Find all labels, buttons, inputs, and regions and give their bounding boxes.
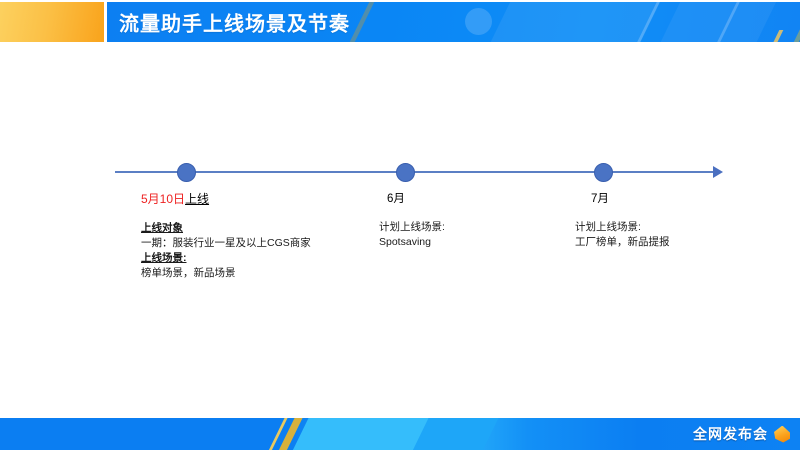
milestone-1-date: 5月10日上线 xyxy=(141,190,311,207)
flame-logo-icon xyxy=(774,426,790,443)
slide-canvas: 流量助手上线场景及节奏 5月10日上线 上线对象 一期：服装行业一星及以上CGS… xyxy=(0,0,800,450)
timeline-milestone-2: 6月 计划上线场景: Spotsaving xyxy=(379,190,445,250)
footer-decor-cyan-band-2 xyxy=(407,418,504,450)
milestone-3-date: 7月 xyxy=(591,190,670,206)
milestone-2-date: 6月 xyxy=(387,190,445,206)
footer-decor-cyan-band xyxy=(287,418,454,450)
timeline-axis-line xyxy=(115,171,715,173)
milestone-1-line-3: 上线场景: xyxy=(141,251,311,266)
milestone-1-date-suffix: 上线 xyxy=(185,192,209,206)
footer-brand: 全网发布会 xyxy=(693,424,790,444)
footer-decor-gold-thin xyxy=(263,418,293,450)
timeline-diagram: 5月10日上线 上线对象 一期：服装行业一星及以上CGS商家 上线场景: 榜单场… xyxy=(0,0,800,450)
timeline-dot-2 xyxy=(396,163,415,182)
timeline-dot-1 xyxy=(177,163,196,182)
footer-brand-text: 全网发布会 xyxy=(693,424,768,444)
milestone-1-line-4: 榜单场景，新品场景 xyxy=(141,266,311,281)
milestone-1-body: 上线对象 一期：服装行业一星及以上CGS商家 上线场景: 榜单场景，新品场景 xyxy=(141,221,311,281)
milestone-3-line-2: 工厂榜单，新品提报 xyxy=(575,235,670,250)
milestone-2-line-2: Spotsaving xyxy=(379,235,445,250)
slide-footer: 全网发布会 xyxy=(0,418,800,450)
footer-decor-gold-stripe xyxy=(273,418,308,450)
timeline-arrow-icon xyxy=(713,166,723,178)
milestone-1-date-highlight: 5月10日 xyxy=(141,192,185,206)
timeline-milestone-1: 5月10日上线 上线对象 一期：服装行业一星及以上CGS商家 上线场景: 榜单场… xyxy=(141,190,311,281)
milestone-1-line-1: 上线对象 xyxy=(141,221,311,236)
milestone-2-body: 计划上线场景: Spotsaving xyxy=(379,220,445,250)
milestone-1-line-2: 一期：服装行业一星及以上CGS商家 xyxy=(141,236,311,251)
milestone-3-line-1: 计划上线场景: xyxy=(575,220,670,235)
milestone-2-line-1: 计划上线场景: xyxy=(379,220,445,235)
timeline-milestone-3: 7月 计划上线场景: 工厂榜单，新品提报 xyxy=(575,190,670,250)
milestone-3-body: 计划上线场景: 工厂榜单，新品提报 xyxy=(575,220,670,250)
timeline-dot-3 xyxy=(594,163,613,182)
